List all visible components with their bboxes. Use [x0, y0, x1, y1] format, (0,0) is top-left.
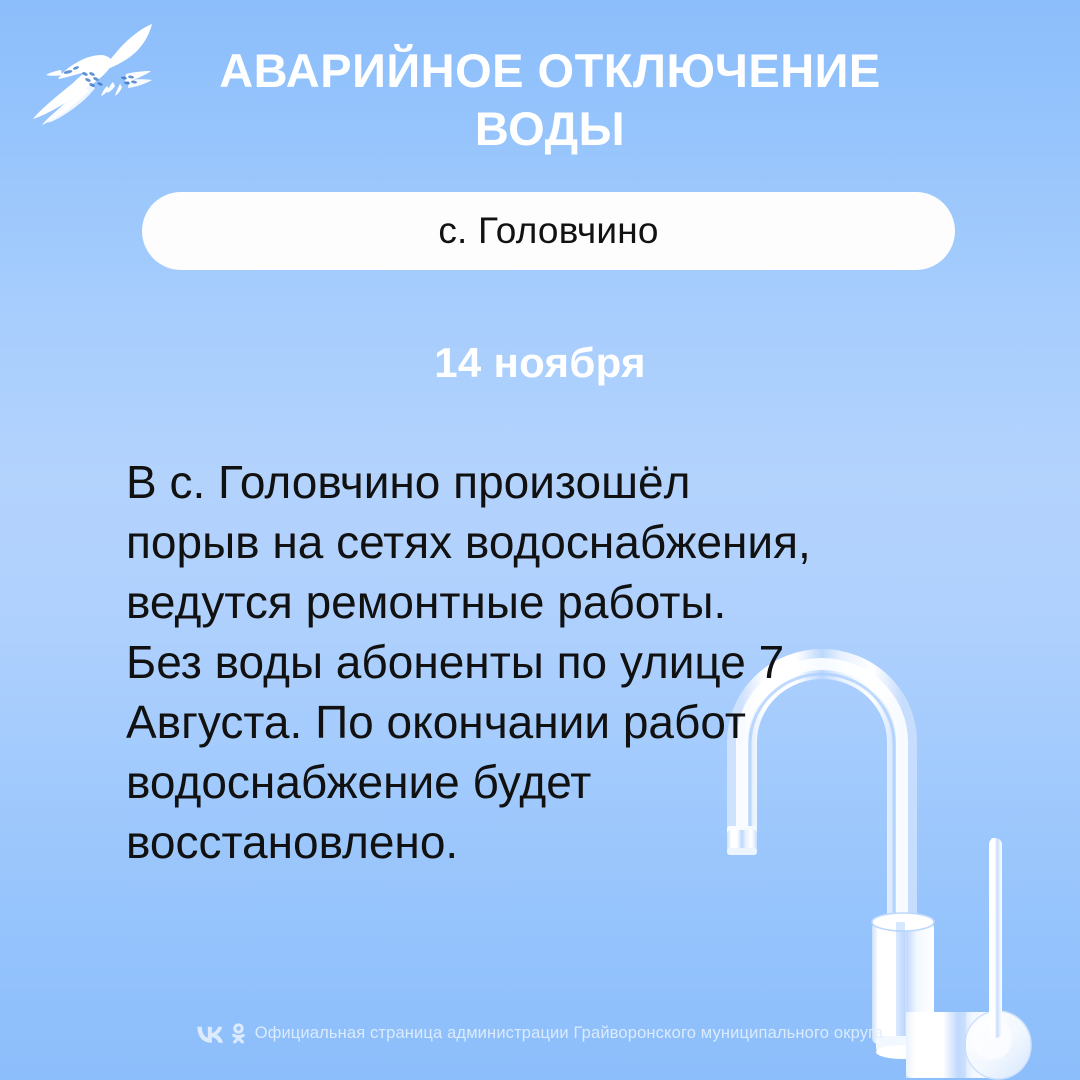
vk-icon[interactable] [197, 1025, 224, 1043]
page-title: АВАРИЙНОЕ ОТКЛЮЧЕНИЕ ВОДЫ [180, 42, 920, 158]
announcement-body: В с. Головчино произошёл порыв на сетях … [126, 452, 1026, 872]
odnoklassniki-icon[interactable] [231, 1023, 246, 1044]
flying-bird-emblem-icon [30, 22, 162, 132]
date-label: 14 ноября [0, 339, 1080, 387]
poster-canvas: АВАРИЙНОЕ ОТКЛЮЧЕНИЕ ВОДЫ с. Головчино 1… [0, 0, 1080, 1080]
footer-social-icons [197, 1023, 246, 1044]
footer-label: Официальная страница администрации Грайв… [255, 1024, 884, 1043]
location-pill: с. Головчино [142, 192, 955, 270]
location-label: с. Головчино [438, 210, 658, 252]
footer: Официальная страница администрации Грайв… [0, 1023, 1080, 1044]
